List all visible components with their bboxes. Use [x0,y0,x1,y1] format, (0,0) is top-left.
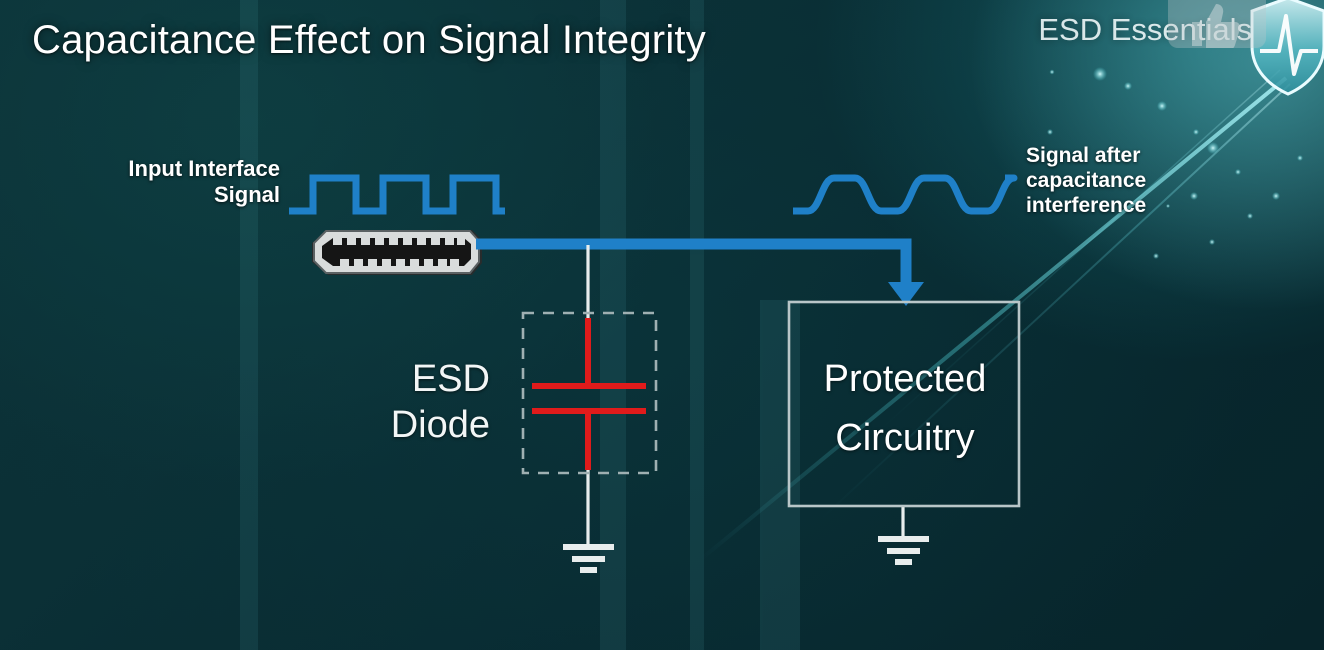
circuit-diagram [0,0,1324,650]
ground-symbol-icon [563,547,614,570]
slide-canvas: Capacitance Effect on Signal Integrity E… [0,0,1324,650]
esd-diode-label: ESD Diode [360,356,490,449]
esd-diode-label-line2: Diode [360,402,490,448]
capacitor-symbol-icon [532,318,646,470]
ground-symbol-icon [878,539,929,562]
protected-circuitry-label: Protected Circuitry [790,350,1020,468]
rounded-wave-icon [793,178,1018,211]
esd-diode-label-line1: ESD [360,356,490,402]
square-wave-icon [289,178,505,211]
protected-circuitry-label-line2: Circuitry [790,409,1020,468]
signal-trace [476,244,924,306]
protected-circuitry-label-line1: Protected [790,350,1020,409]
hdmi-connector-icon [312,230,482,275]
